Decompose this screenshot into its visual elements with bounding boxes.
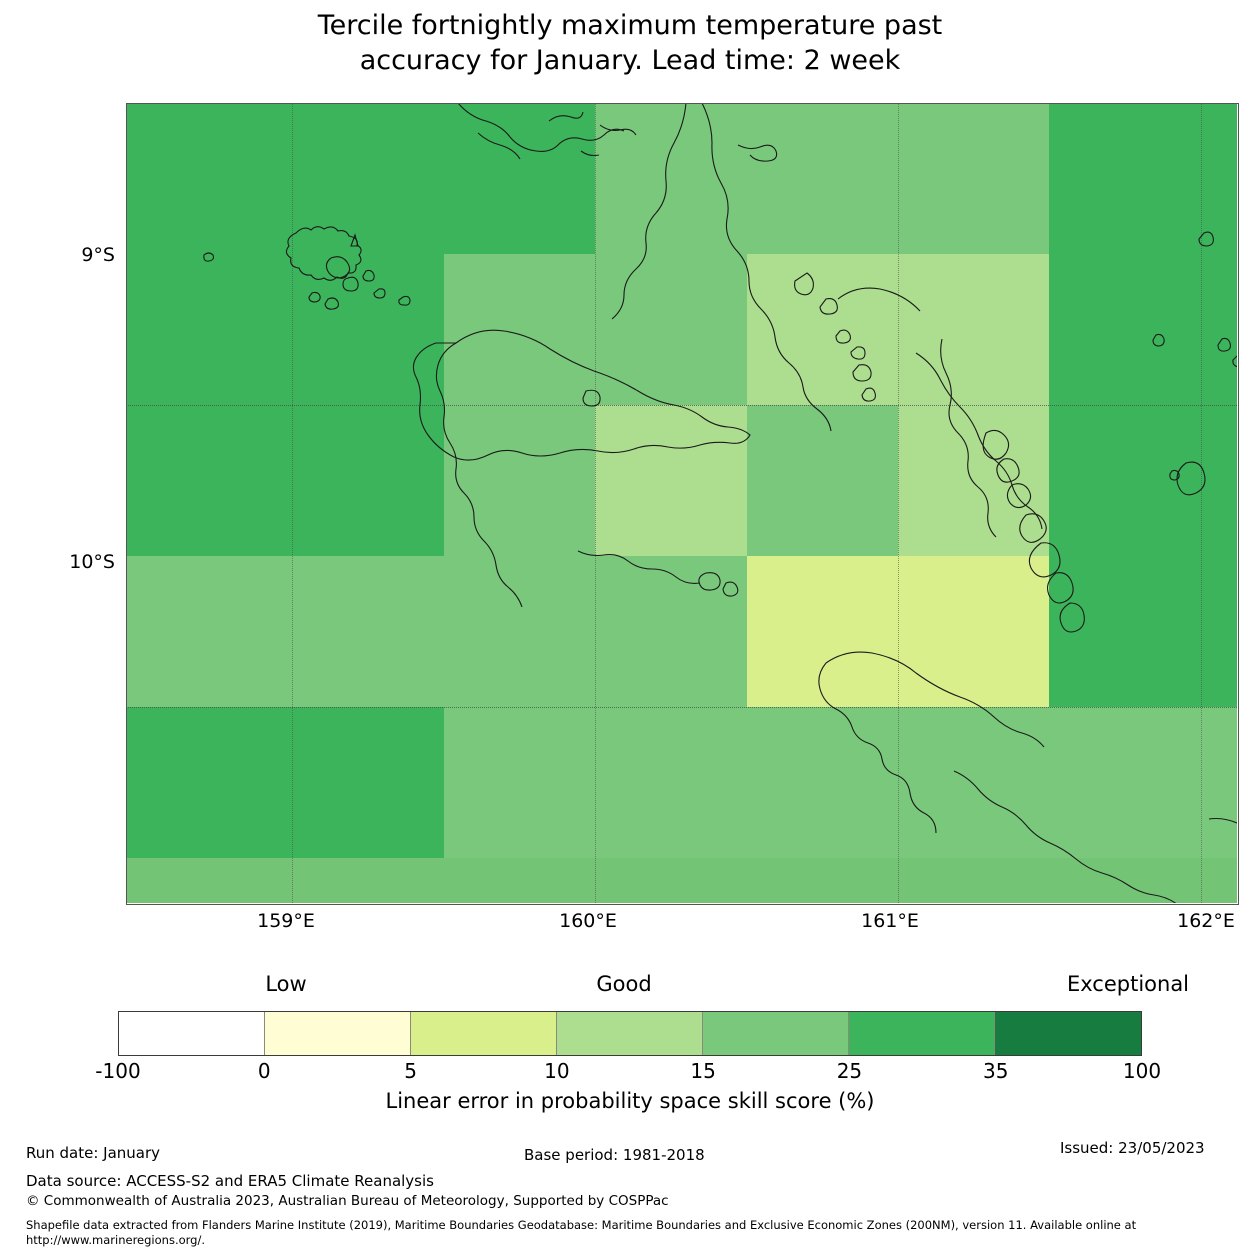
map-heatmap-panel[interactable] — [126, 103, 1237, 903]
footer-issued-date: Issued: 23/05/2023 — [1060, 1139, 1205, 1157]
colorbar-segment — [119, 1012, 265, 1055]
colorbar-tick-label: 35 — [983, 1060, 1008, 1082]
colorbar-segment — [411, 1012, 557, 1055]
colorbar-tick-label: 100 — [1123, 1060, 1161, 1082]
footer-data-source: Data source: ACCESS-S2 and ERA5 Climate … — [26, 1172, 434, 1190]
x-axis-tick-label: 161°E — [861, 912, 919, 931]
colorbar-segment — [849, 1012, 995, 1055]
colorbar-tick-label: 15 — [690, 1060, 715, 1082]
colorbar-category-label: Good — [596, 973, 651, 996]
footer-shapefile-attribution: Shapefile data extracted from Flanders M… — [26, 1218, 1226, 1248]
footer-base-period: Base period: 1981-2018 — [524, 1146, 705, 1164]
colorbar-category-label: Exceptional — [1067, 973, 1189, 996]
colorbar-tick-label: 5 — [404, 1060, 417, 1082]
footer-copyright: © Commonwealth of Australia 2023, Austra… — [26, 1192, 669, 1210]
coastline-overlay — [126, 103, 1237, 903]
colorbar-tick-label: 25 — [837, 1060, 862, 1082]
colorbar-tick-label: 10 — [544, 1060, 569, 1082]
colorbar-category-label: Low — [265, 973, 306, 996]
colorbar-segment — [265, 1012, 411, 1055]
colorbar-segment — [703, 1012, 849, 1055]
colorbar-segment — [557, 1012, 703, 1055]
x-axis-tick-label: 162°E — [1177, 912, 1235, 931]
page-title: Tercile fortnightly maximum temperature … — [0, 8, 1260, 78]
y-axis-tick-label: 9°S — [81, 246, 115, 265]
colorbar-tick-label: -100 — [95, 1060, 140, 1082]
footer-run-date: Run date: January — [26, 1144, 160, 1162]
x-axis-tick-label: 160°E — [559, 912, 617, 931]
y-axis-tick-label: 10°S — [69, 553, 115, 572]
colorbar-axis-label: Linear error in probability space skill … — [0, 1089, 1260, 1113]
colorbar-segment — [995, 1012, 1141, 1055]
colorbar-tick-label: 0 — [258, 1060, 271, 1082]
colorbar[interactable] — [118, 1011, 1142, 1056]
x-axis-tick-label: 159°E — [257, 912, 315, 931]
colorbar-gradient[interactable] — [118, 1011, 1142, 1056]
